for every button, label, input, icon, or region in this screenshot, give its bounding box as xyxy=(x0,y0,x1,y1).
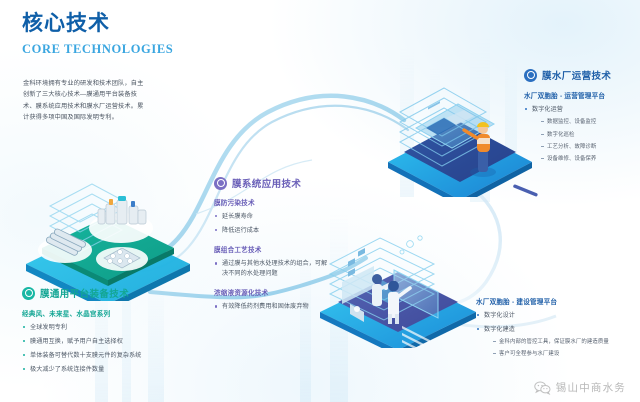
operation-sub-list: 数据监控、设备监控 数字化巡检 工艺分析、故障诊断 设备维修、设备保养 xyxy=(541,118,640,162)
application-group-2-subtitle: 浓缩液资源化技术 xyxy=(214,287,330,297)
page-header: 核心技术 CORE TECHNOLOGIES xyxy=(22,12,173,57)
operation-block-header: 膜水厂运营技术 xyxy=(524,68,640,82)
construction-block-subtitle: 水厂双胞胎 - 建设管理平台 xyxy=(476,296,638,306)
application-group-0-subtitle: 膜防污染技术 xyxy=(214,197,330,207)
list-item: 数字化建造 金科内部的管控工具，保证膜水厂的建造质量 客户可全程参与水厂建设 xyxy=(476,325,638,359)
block-plant-operation: 膜水厂运营技术 水厂双胞胎 - 运营管理平台 数字化运营 数据监控、设备监控 数… xyxy=(524,68,640,167)
application-block-header: 膜系统应用技术 xyxy=(214,176,330,190)
platform-block-title: 膜通用平台装备技术 xyxy=(40,286,129,300)
illustration-membrane-plant xyxy=(18,176,208,301)
list-item: 极大减少了系统连接件数量 xyxy=(22,365,202,374)
poster-canvas: 核心技术 CORE TECHNOLOGIES 金科环境拥有专业的研发和技术团队，… xyxy=(0,0,640,402)
list-item: 全球发明专利 xyxy=(22,323,202,332)
gear-circle-icon xyxy=(22,287,35,300)
list-item: 通过膜与其他水处理技术的组合，可解决不同的水处理问题 xyxy=(214,259,330,278)
list-item: 数字化运营 数据监控、设备监控 数字化巡检 工艺分析、故障诊断 设备维修、设备保… xyxy=(524,105,640,163)
wechat-icon xyxy=(534,381,551,395)
intro-paragraph: 金科环境拥有专业的研发和技术团队，自主创新了三大核心技术—膜通用平台装备技术、膜… xyxy=(23,78,149,124)
sub-list-item: 金科内部的管控工具，保证膜水厂的建造质量 xyxy=(493,338,638,346)
list-item: 数字化设计 xyxy=(476,311,638,320)
list-item: 延长膜寿命 xyxy=(214,212,330,221)
list-item: 降低运行成本 xyxy=(214,226,330,235)
illustration-operator-dashboard xyxy=(382,72,542,197)
list-item: 有效降低药剂费用和固体废弃物 xyxy=(214,302,330,311)
platform-bullet-list: 全球发明专利 膜通用互换，赋予用户自主选择权 单体装备可替代数十支膜元件的复杂系… xyxy=(22,323,202,374)
platform-block-subtitle: 经典风、未来星、水晶宫系列 xyxy=(22,308,202,318)
application-group-1-list: 通过膜与其他水处理技术的组合，可解决不同的水处理问题 xyxy=(214,259,330,278)
list-item: 单体装备可替代数十支膜元件的复杂系统 xyxy=(22,351,202,360)
platform-block-header: 膜通用平台装备技术 xyxy=(22,286,202,300)
operation-bullet-list: 数字化运营 数据监控、设备监控 数字化巡检 工艺分析、故障诊断 设备维修、设备保… xyxy=(524,105,640,163)
list-item-label: 数字化建造 xyxy=(484,326,515,333)
gear-circle-icon xyxy=(214,177,227,190)
sub-list-item: 数字化巡检 xyxy=(541,131,640,139)
operation-block-title: 膜水厂运营技术 xyxy=(542,68,611,82)
application-group-2-list: 有效降低药剂费用和固体废弃物 xyxy=(214,302,330,311)
application-group-0-list: 延长膜寿命 降低运行成本 xyxy=(214,212,330,235)
illustration-lab-control xyxy=(316,226,486,348)
sub-list-item: 数据监控、设备监控 xyxy=(541,118,640,126)
construction-bullet-list: 数字化设计 数字化建造 金科内部的管控工具，保证膜水厂的建造质量 客户可全程参与… xyxy=(476,311,638,359)
application-group-1-subtitle: 膜组合工艺技术 xyxy=(214,244,330,254)
list-item-label: 数字化运营 xyxy=(532,106,563,113)
watermark-text: 锡山中商水务 xyxy=(556,380,626,395)
page-title-en: CORE TECHNOLOGIES xyxy=(22,42,173,57)
block-system-application: 膜系统应用技术 膜防污染技术 延长膜寿命 降低运行成本 膜组合工艺技术 通过膜与… xyxy=(214,176,330,316)
page-title-cn: 核心技术 xyxy=(22,12,173,35)
block-construction-platform: 水厂双胞胎 - 建设管理平台 数字化设计 数字化建造 金科内部的管控工具，保证膜… xyxy=(476,296,638,363)
application-block-title: 膜系统应用技术 xyxy=(232,176,301,190)
block-platform-equipment: 膜通用平台装备技术 经典风、未来星、水晶宫系列 全球发明专利 膜通用互换，赋予用… xyxy=(22,286,202,379)
gear-circle-icon xyxy=(524,69,537,82)
sub-list-item: 客户可全程参与水厂建设 xyxy=(493,350,638,358)
footer-watermark: 锡山中商水务 xyxy=(534,380,626,395)
construction-sub-list: 金科内部的管控工具，保证膜水厂的建造质量 客户可全程参与水厂建设 xyxy=(493,338,638,358)
list-item: 膜通用互换，赋予用户自主选择权 xyxy=(22,337,202,346)
operation-block-subtitle: 水厂双胞胎 - 运营管理平台 xyxy=(524,90,640,100)
sub-list-item: 工艺分析、故障诊断 xyxy=(541,143,640,151)
sub-list-item: 设备维修、设备保养 xyxy=(541,155,640,163)
